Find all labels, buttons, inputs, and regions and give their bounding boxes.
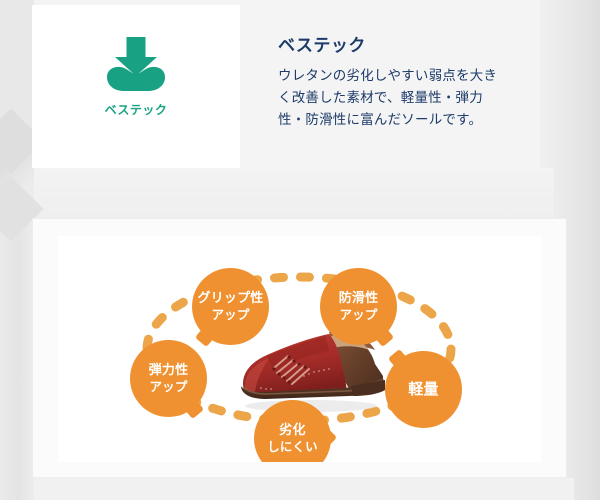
feature-icon-card: ベステック <box>32 5 240 168</box>
bubble-line-1: 弾力性 <box>149 362 189 379</box>
bubble-line-2: アップ <box>339 307 377 323</box>
feature-block: ベステック ベステック ウレタンの劣化しやすい弱点を大きく改善した素材で、軽量性… <box>32 5 540 168</box>
bubble-line-2: アップ <box>211 307 249 323</box>
cushion-down-arrow-icon <box>93 35 179 97</box>
benefit-bubble-grip[interactable]: グリップ性 アップ <box>192 268 269 345</box>
screenshot-root: ベステック ベステック ウレタンの劣化しやすい弱点を大きく改善した素材で、軽量性… <box>0 0 600 500</box>
background-left-wedge <box>0 150 34 210</box>
bubble-line-2: アップ <box>149 379 187 395</box>
background-mid-band <box>34 168 554 218</box>
benefits-diagram-panel: グリップ性 アップ 防滑性 アップ 弾力性 アップ 軽量 劣化 しにくい <box>32 218 567 478</box>
bubble-line-1: 劣化 <box>279 422 305 439</box>
bubble-line-1: 軽量 <box>408 380 438 399</box>
benefit-bubble-slip-resistance[interactable]: 防滑性 アップ <box>320 268 397 345</box>
bubble-line-1: グリップ性 <box>197 290 263 307</box>
background-left-column <box>0 0 34 500</box>
benefit-bubble-elasticity[interactable]: 弾力性 アップ <box>130 340 207 417</box>
benefits-diagram-canvas: グリップ性 アップ 防滑性 アップ 弾力性 アップ 軽量 劣化 しにくい <box>58 236 541 462</box>
feature-icon-caption: ベステック <box>105 101 168 118</box>
bubble-line-1: 防滑性 <box>339 290 379 307</box>
bubble-line-2: しにくい <box>267 439 318 455</box>
benefit-bubble-lightweight[interactable]: 軽量 <box>385 351 462 428</box>
feature-title: ベステック <box>278 31 522 56</box>
background-left-band <box>0 0 34 134</box>
background-bottom-band <box>34 478 574 500</box>
feature-description: ウレタンの劣化しやすい弱点を大きく改善した素材で、軽量性・弾力性・防滑性に富んだ… <box>278 65 510 131</box>
feature-icon-wrap: ベステック <box>32 35 240 118</box>
feature-text-column: ベステック ウレタンの劣化しやすい弱点を大きく改善した素材で、軽量性・弾力性・防… <box>240 5 540 131</box>
